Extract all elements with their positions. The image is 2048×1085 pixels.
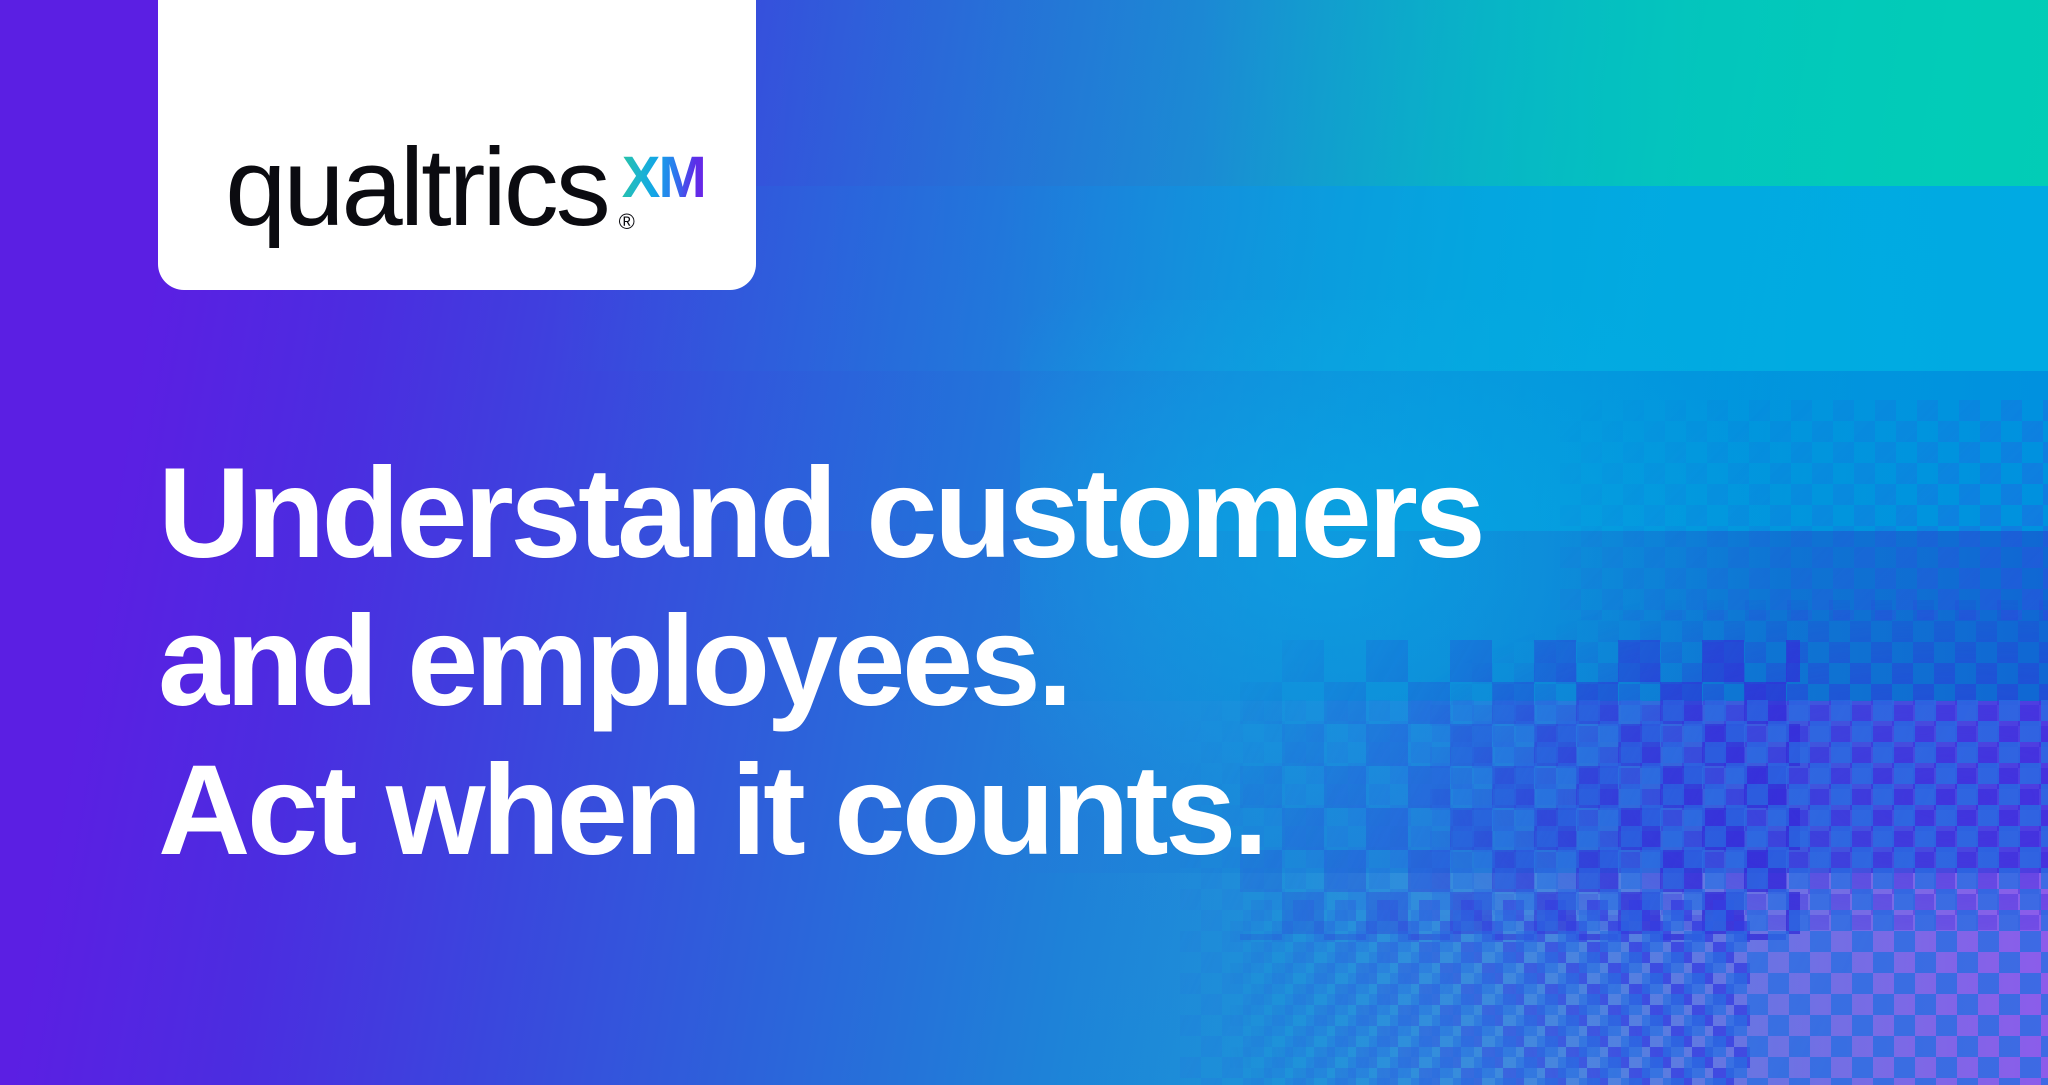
qualtrics-hero-banner: qualtrics ® XM Understand customers and … [0,0,2048,1085]
logo-wordmark: qualtrics ® [225,137,608,238]
registered-trademark-icon: ® [619,212,632,232]
headline-line-2: and employees. [158,588,1482,736]
headline: Understand customers and employees. Act … [158,440,1482,885]
headline-line-3: Act when it counts. [158,737,1482,885]
color-band-teal [748,0,2048,186]
qualtrics-logo: qualtrics ® XM [225,137,705,238]
logo-card: qualtrics ® XM [158,0,756,290]
logo-wordmark-text: qualtrics [225,126,608,249]
color-band-cyan [548,186,2048,371]
logo-xm-suffix: XM [622,149,705,207]
headline-line-1: Understand customers [158,440,1482,588]
color-band-magenta [1068,873,2048,1085]
